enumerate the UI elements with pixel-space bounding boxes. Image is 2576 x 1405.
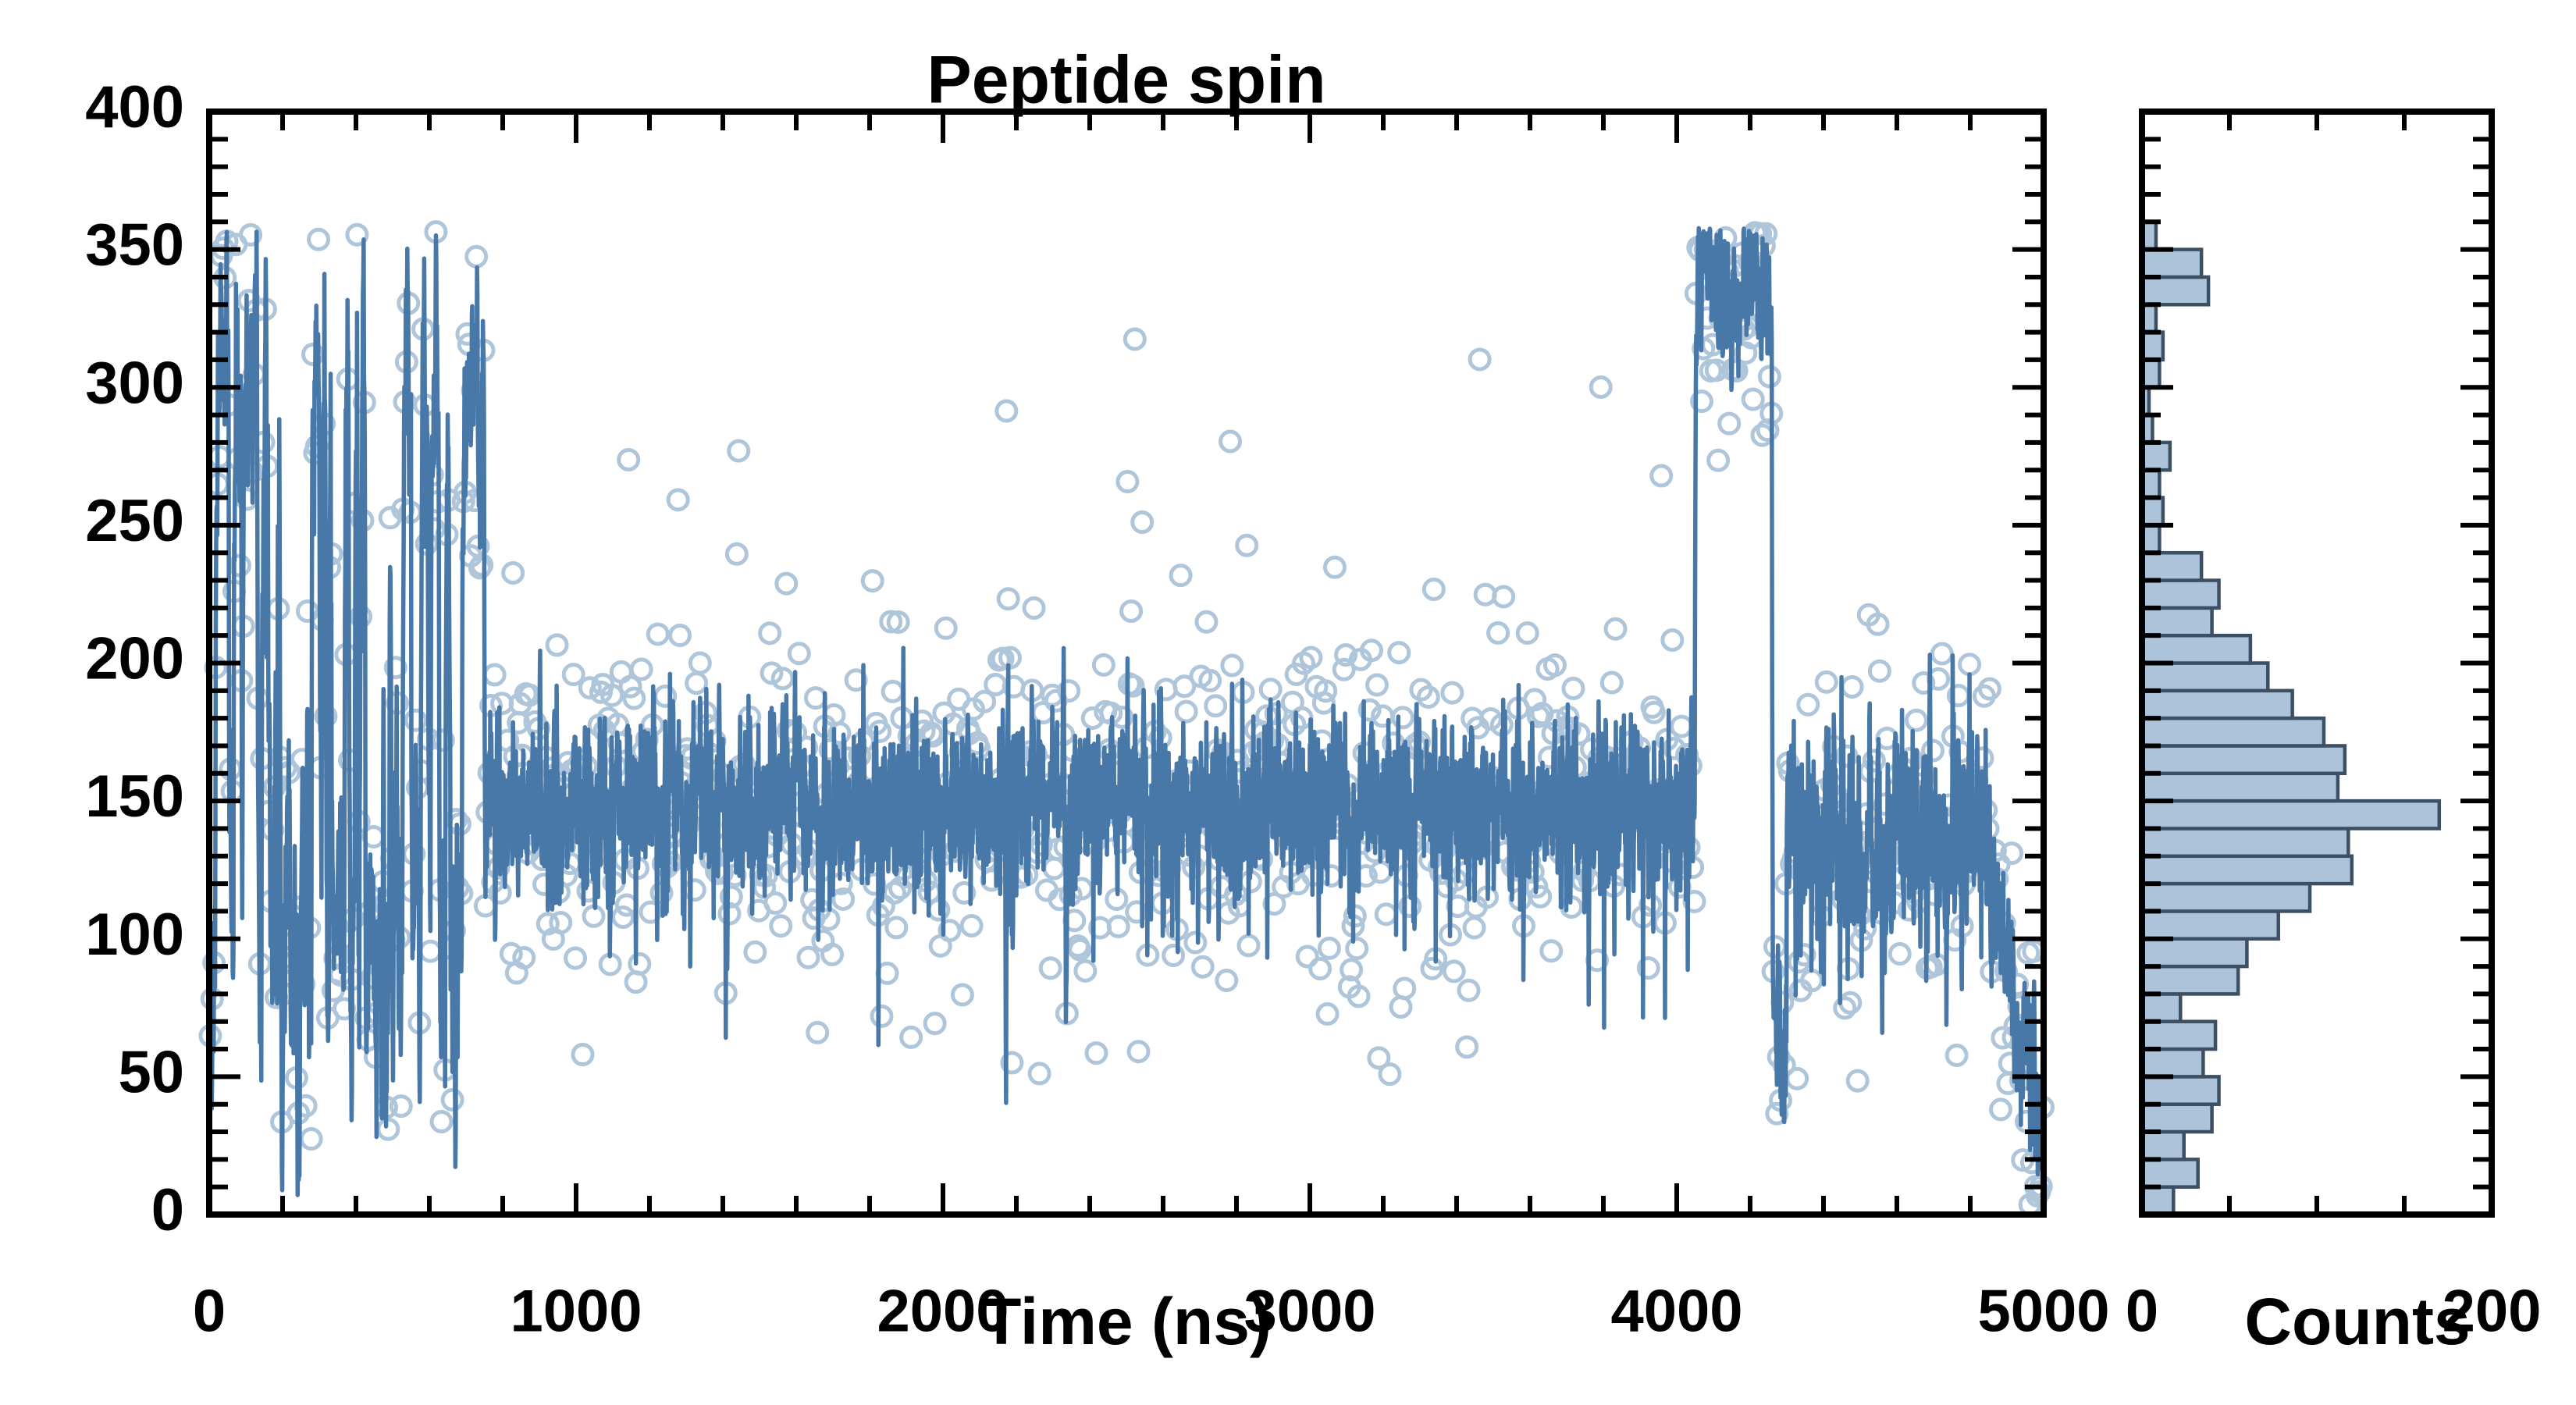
histogram-bar xyxy=(2142,745,2345,773)
y-tick-label: 150 xyxy=(85,763,184,830)
y-tick-label: 400 xyxy=(85,74,184,140)
histogram-bar xyxy=(2142,581,2219,608)
y-tick-label: 100 xyxy=(85,902,184,968)
histogram-bar xyxy=(2142,663,2268,691)
histogram-bar xyxy=(2142,1159,2198,1186)
histogram-bar xyxy=(2142,1022,2215,1049)
histogram-bar xyxy=(2142,939,2247,966)
x-axis-label: Time (ns) xyxy=(981,1285,1272,1358)
y-tick-label: 0 xyxy=(151,1177,184,1243)
histogram-bar xyxy=(2142,828,2348,855)
histogram-bar xyxy=(2142,1187,2173,1215)
histogram-bar xyxy=(2142,856,2352,884)
x-tick-label: 1000 xyxy=(510,1278,642,1344)
y-tick-label: 250 xyxy=(85,488,184,554)
histogram-bar xyxy=(2142,443,2170,470)
histogram-bar xyxy=(2142,994,2180,1021)
histogram-bar xyxy=(2142,608,2212,635)
histogram-bar xyxy=(2142,250,2201,277)
histogram-bar xyxy=(2142,635,2250,663)
y-tick-label: 50 xyxy=(118,1039,184,1105)
histogram-bar xyxy=(2142,801,2439,828)
histogram-bar xyxy=(2142,691,2293,718)
y-tick-label: 200 xyxy=(85,626,184,692)
histogram-x-tick-label: 0 xyxy=(2126,1278,2158,1344)
figure-canvas: 0100020003000400050000501001502002503003… xyxy=(0,0,2576,1405)
histogram-bar xyxy=(2142,1049,2203,1076)
histogram-bar xyxy=(2142,1076,2219,1104)
chart-svg: 0100020003000400050000501001502002503003… xyxy=(0,0,2576,1405)
x-tick-label: 5000 xyxy=(1977,1278,2109,1344)
histogram-bar xyxy=(2142,774,2338,801)
histogram-bar xyxy=(2142,1104,2212,1132)
histogram-bar xyxy=(2142,718,2324,745)
histogram-bar xyxy=(2142,884,2310,911)
x-tick-label: 4000 xyxy=(1610,1278,1742,1344)
y-tick-label: 300 xyxy=(85,350,184,416)
histogram-x-axis-label: Counts xyxy=(2244,1285,2470,1358)
histogram-bar xyxy=(2142,966,2238,994)
histogram-bar xyxy=(2142,333,2163,360)
chart-title: Peptide spin xyxy=(927,43,1325,118)
histogram-bar xyxy=(2142,911,2279,938)
x-tick-label: 0 xyxy=(193,1278,226,1344)
y-tick-label: 350 xyxy=(85,212,184,279)
histogram-bar xyxy=(2142,277,2208,304)
histogram-bar xyxy=(2142,553,2201,580)
histogram-bar xyxy=(2142,1132,2184,1159)
histogram-bar xyxy=(2142,498,2163,525)
